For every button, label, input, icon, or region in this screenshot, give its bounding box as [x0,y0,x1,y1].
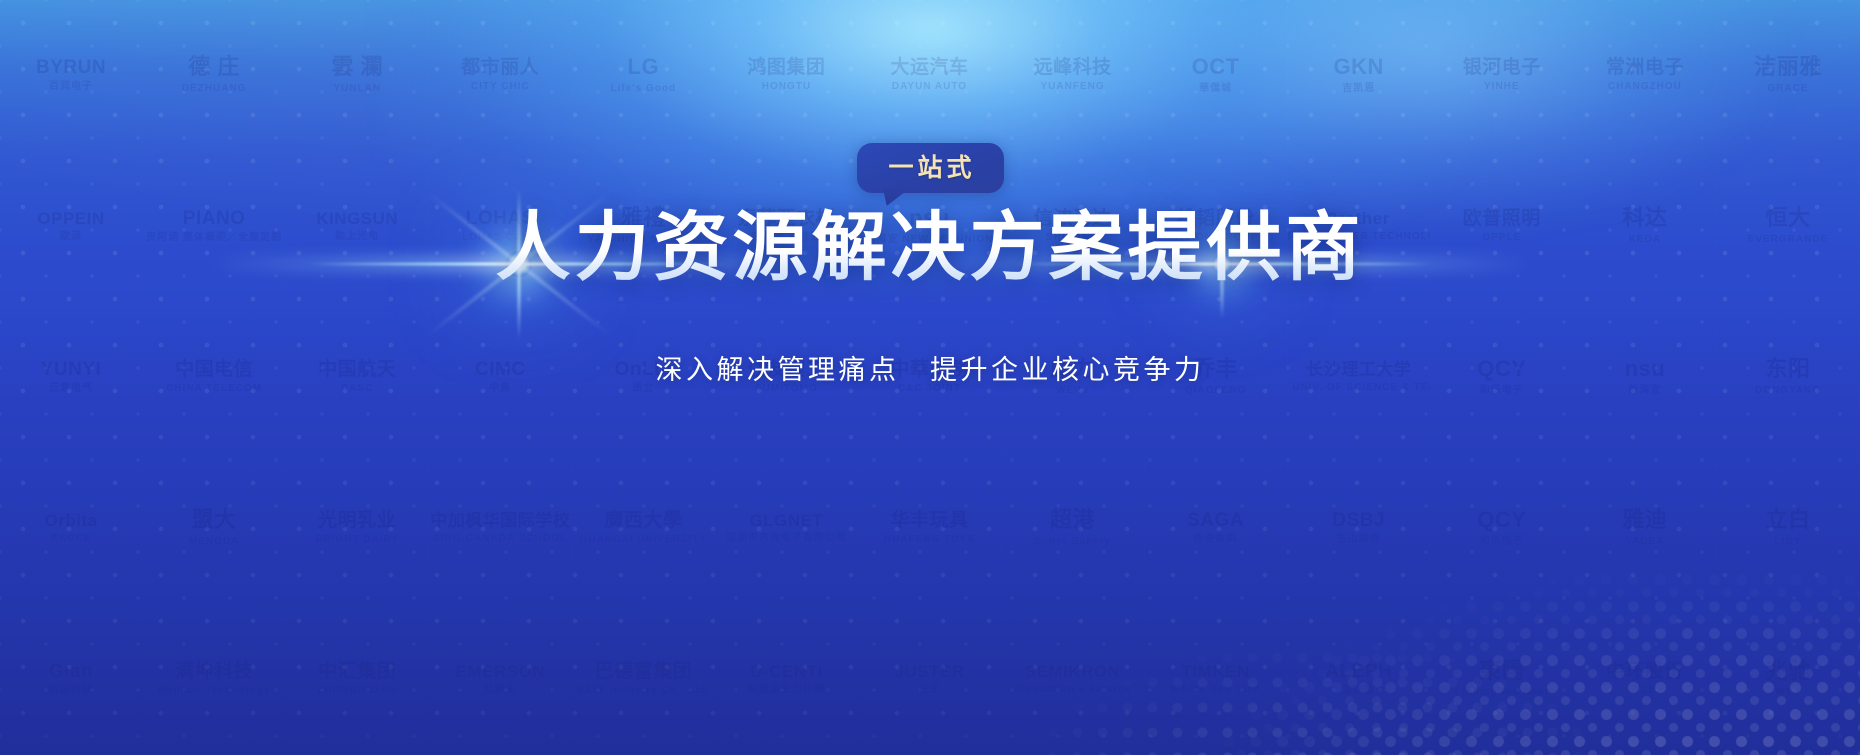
badge-tail [883,186,913,206]
page-subtitle: 深入解决管理痛点 提升企业核心竞争力 [656,354,1205,386]
one-stop-badge-label: 一站式 [884,156,975,181]
hero-content: 一站式 人力资源解决方案提供商 深入解决管理痛点 提升企业核心竞争力 [0,0,1860,755]
page-title: 人力资源解决方案提供商 [495,207,1364,288]
hero-banner: BYRUN百润电子德 庄DEZHUANG雲 瀾YUNLAN都市丽人CITY CH… [0,0,1860,755]
one-stop-badge[interactable]: 一站式 [857,143,1004,193]
badge-wrapper: 一站式 [857,143,1004,193]
